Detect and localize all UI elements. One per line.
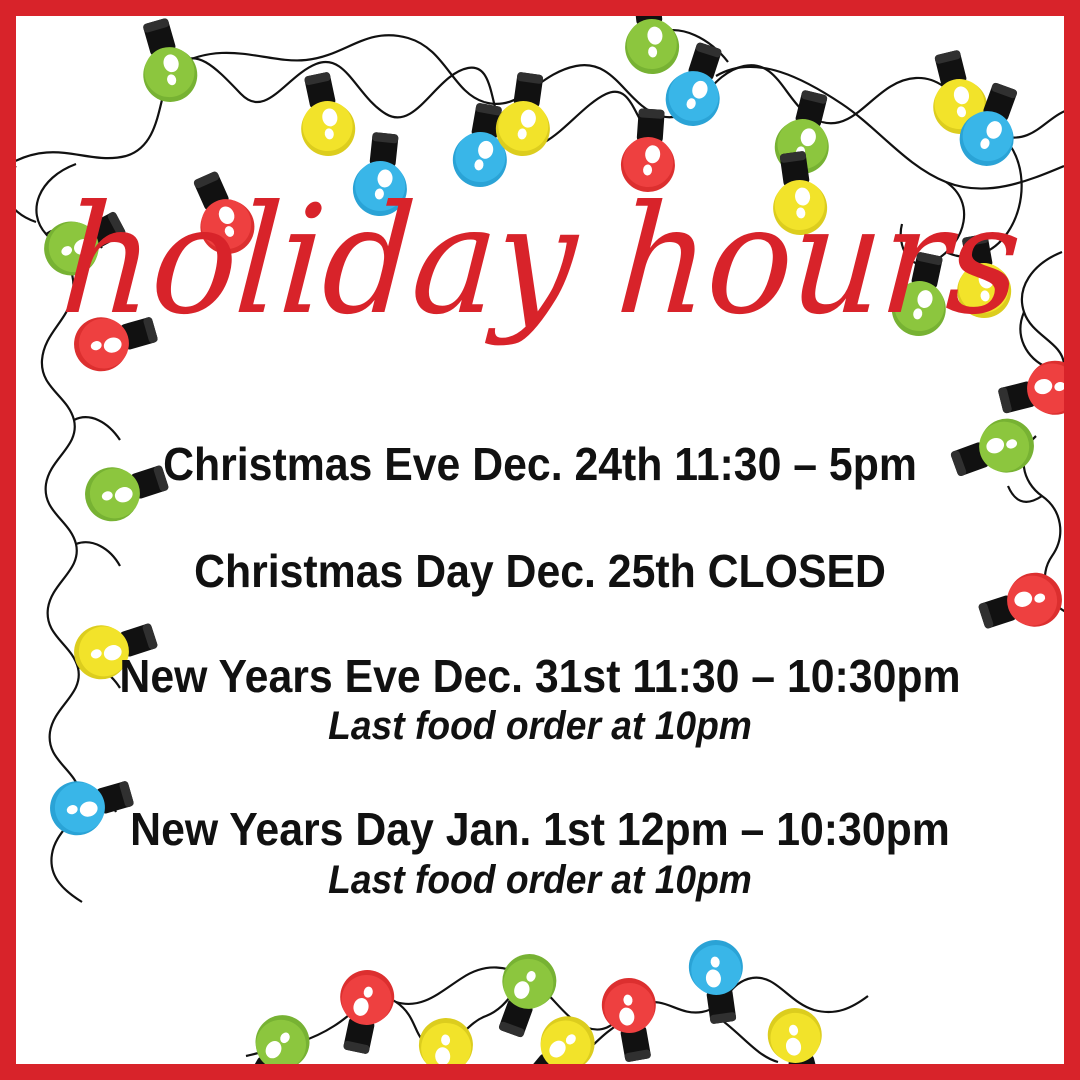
light-bulb-green-icon [129,16,204,108]
light-bulb-green-icon [485,946,564,1042]
light-bulb-red-icon [329,965,399,1057]
hours-entry-new-years-day: New Years Day Jan. 1st 12pm – 10:30pm La… [16,805,1064,903]
light-bulb-yellow-icon [511,1005,606,1064]
hours-entry-christmas-eve: Christmas Eve Dec. 24th 11:30 – 5pm [16,440,1064,489]
hours-entry-main: Christmas Eve Dec. 24th 11:30 – 5pm [53,440,1028,489]
spacer [16,749,1064,805]
light-bulb-green-icon [231,1005,319,1064]
light-bulb-red-icon [994,355,1064,427]
light-bulb-blue-icon [952,77,1031,173]
hours-entry-christmas-day: Christmas Day Dec. 25th CLOSED [16,547,1064,596]
light-bulb-blue-icon [659,37,736,133]
light-bulb-yellow-icon [492,70,557,160]
page-title: holiday hours [57,192,1023,330]
hours-entry-new-years-eve: New Years Eve Dec. 31st 11:30 – 10:30pm … [16,652,1064,750]
hours-entry-note: Last food order at 10pm [53,704,1028,749]
light-bulb-yellow-icon [417,1016,477,1064]
holiday-hours-poster: holiday hours Christmas Eve Dec. 24th 11… [0,0,1080,1080]
title-container: holiday hours [16,192,1064,330]
light-bulb-green-icon [619,16,681,77]
poster-inner-panel: holiday hours Christmas Eve Dec. 24th 11… [16,16,1064,1064]
hours-list: Christmas Eve Dec. 24th 11:30 – 5pm Chri… [16,440,1064,903]
hours-entry-main: New Years Day Jan. 1st 12pm – 10:30pm [53,805,1028,854]
spacer [16,596,1064,652]
light-bulb-yellow-icon [762,1002,834,1064]
hours-entry-note: Last food order at 10pm [53,858,1028,903]
hours-entry-main: Christmas Day Dec. 25th CLOSED [53,547,1028,596]
light-bulb-blue-icon [685,937,750,1027]
hours-entry-main: New Years Eve Dec. 31st 11:30 – 10:30pm [53,652,1028,701]
light-bulb-yellow-icon [290,69,360,161]
light-bulb-yellow-icon [920,46,992,140]
spacer [16,489,1064,547]
light-bulb-green-icon [769,86,841,180]
bottom-garland-wire [246,967,868,1062]
light-bulb-red-icon [598,974,666,1064]
